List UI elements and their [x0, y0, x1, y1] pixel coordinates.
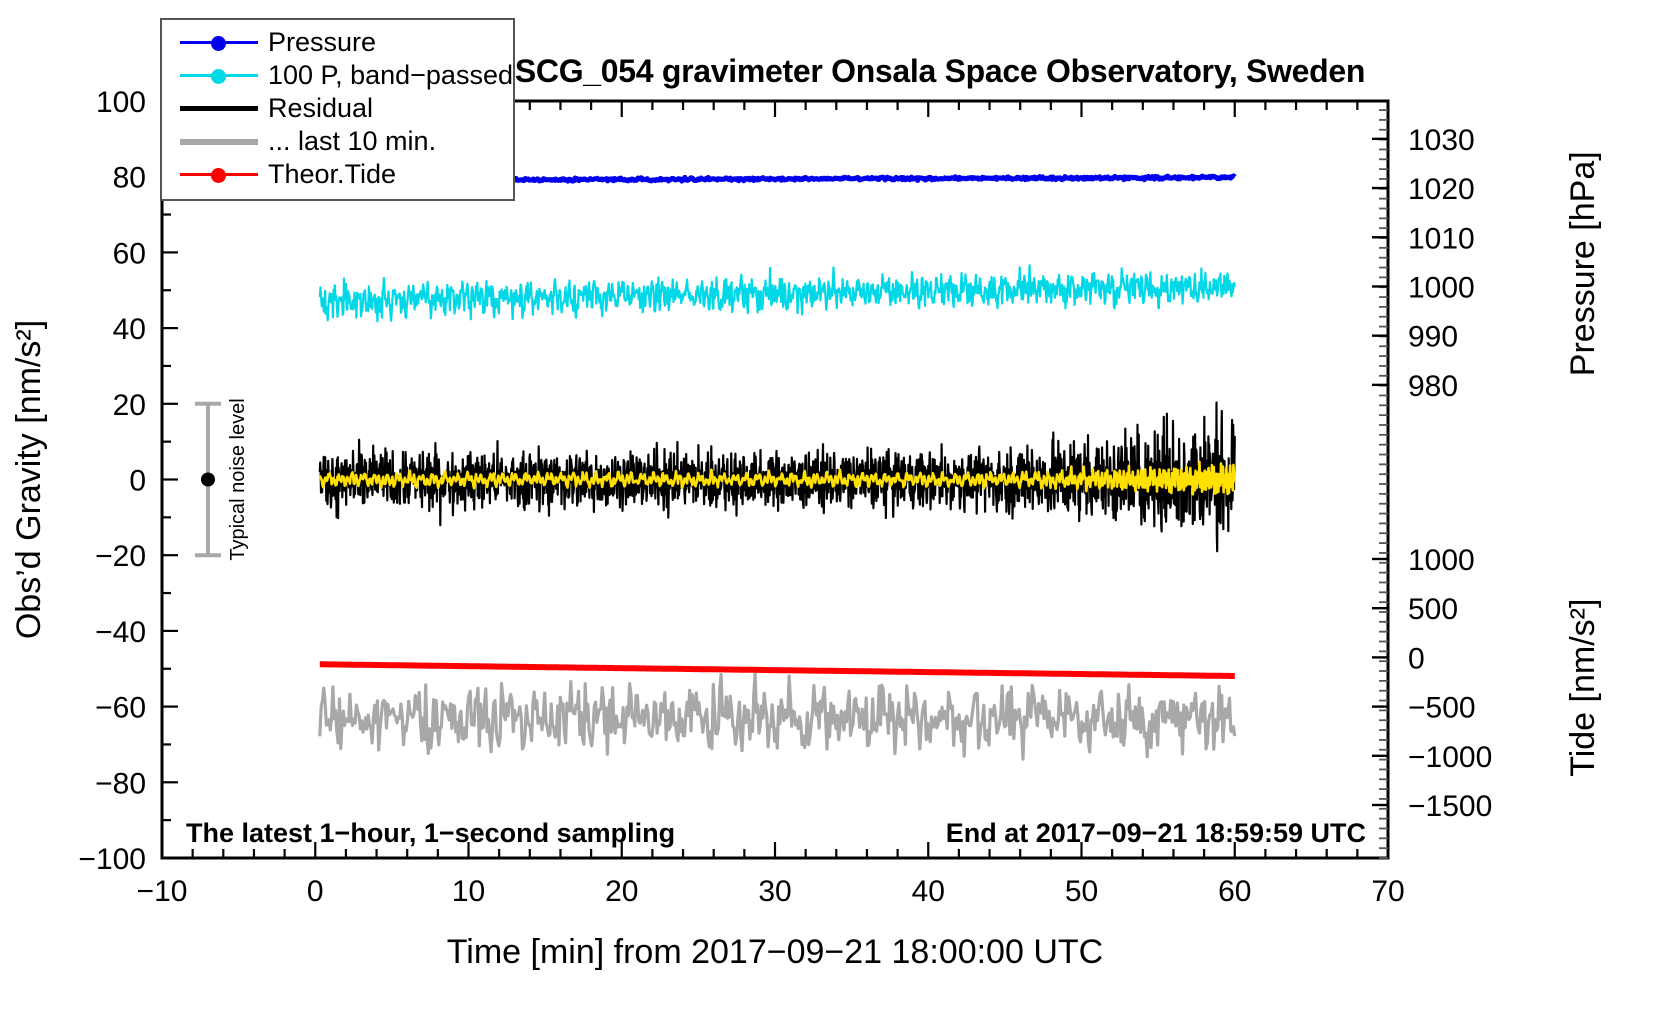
- legend-label: Pressure: [268, 27, 376, 58]
- y-tick-label: 20: [113, 389, 146, 422]
- x-axis-title: Time [min] from 2017−09−21 18:00:00 UTC: [447, 933, 1103, 971]
- legend-label: Residual: [268, 93, 373, 124]
- series-theor-tide: [320, 664, 1235, 676]
- tide-tick-label: −1500: [1408, 790, 1492, 823]
- legend-swatch: [180, 131, 258, 153]
- tide-tick-label: 0: [1408, 642, 1425, 675]
- pressure-tick-label: 1010: [1408, 222, 1475, 255]
- pressure-tick-label: 1000: [1408, 271, 1475, 304]
- y-tick-label: 40: [113, 313, 146, 346]
- pressure-tick-label: 1020: [1408, 173, 1475, 206]
- gravimeter-plot-page: −10010203040506070Time [min] from 2017−0…: [0, 0, 1660, 1020]
- x-tick-label: 0: [307, 875, 324, 908]
- footer-left: The latest 1−hour, 1−second sampling: [186, 818, 675, 848]
- series-last10min: [320, 674, 1235, 759]
- y-tick-label: 80: [113, 162, 146, 195]
- y-tick-label: 0: [129, 465, 146, 498]
- noise-bar-center-dot: [201, 473, 215, 487]
- x-tick-label: 50: [1065, 875, 1098, 908]
- pressure-tick-label: 1030: [1408, 124, 1475, 157]
- legend-swatch: [180, 98, 258, 120]
- x-tick-label: 10: [452, 875, 485, 908]
- legend-swatch: [180, 32, 258, 54]
- legend-label: Theor.Tide: [268, 159, 396, 190]
- tide-tick-label: −500: [1408, 692, 1476, 725]
- chart-title: SCG_054 gravimeter Onsala Space Observat…: [515, 53, 1365, 89]
- footer-right: End at 2017−09−21 18:59:59 UTC: [946, 818, 1366, 848]
- series-bandpassed: [320, 265, 1235, 321]
- y-tick-label: 60: [113, 237, 146, 270]
- y-tick-label: −40: [95, 616, 146, 649]
- chart-legend: Pressure100 P, band−passedResidual... la…: [160, 18, 515, 201]
- legend-item-5[interactable]: Theor.Tide: [162, 158, 513, 191]
- y-tick-label: −20: [95, 540, 146, 573]
- tide-tick-label: −1000: [1408, 741, 1492, 774]
- legend-item-4[interactable]: ... last 10 min.: [162, 125, 513, 158]
- tide-tick-label: 500: [1408, 593, 1458, 626]
- y-tick-label: −100: [78, 843, 146, 876]
- y-tick-label: 100: [96, 86, 146, 119]
- x-tick-label: 70: [1371, 875, 1404, 908]
- pressure-tick-label: 980: [1408, 370, 1458, 403]
- legend-item-1[interactable]: Pressure: [162, 26, 513, 59]
- legend-label: 100 P, band−passed: [268, 60, 513, 91]
- y-tick-label: −80: [95, 767, 146, 800]
- tide-tick-label: 1000: [1408, 544, 1475, 577]
- x-tick-label: 20: [605, 875, 638, 908]
- x-tick-label: 40: [912, 875, 945, 908]
- noise-level-label: Typical noise level: [227, 398, 249, 560]
- legend-label: ... last 10 min.: [268, 126, 436, 157]
- legend-swatch: [180, 65, 258, 87]
- tide-axis-title: Tide [nm/s²]: [1564, 599, 1602, 777]
- x-tick-label: 60: [1218, 875, 1251, 908]
- legend-item-3[interactable]: Residual: [162, 92, 513, 125]
- x-tick-label: −10: [137, 875, 188, 908]
- pressure-tick-label: 990: [1408, 321, 1458, 354]
- legend-item-2[interactable]: 100 P, band−passed: [162, 59, 513, 92]
- x-tick-label: 30: [758, 875, 791, 908]
- pressure-axis-title: Pressure [hPa]: [1564, 151, 1602, 376]
- y-axis-title: Obs’d Gravity [nm/s²]: [10, 320, 48, 639]
- legend-swatch: [180, 164, 258, 186]
- y-tick-label: −60: [95, 692, 146, 725]
